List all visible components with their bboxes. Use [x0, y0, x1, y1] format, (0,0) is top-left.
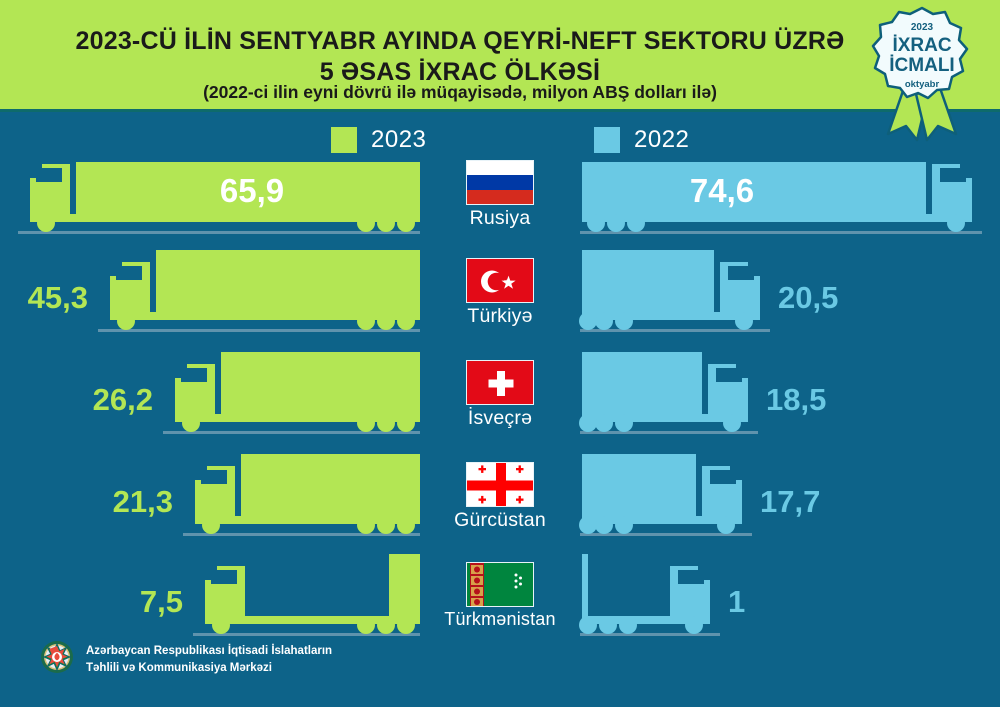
value-2022-turkiye: 20,5: [778, 280, 838, 316]
table-row: 45,3 Türkiyə: [0, 258, 1000, 340]
country-cell-gurcustan: Gürcüstan: [430, 462, 570, 544]
country-label-turkmenistan: Türkmənistan: [444, 609, 555, 630]
row-2-right-truck-area: 18,5: [570, 360, 1000, 442]
country-cell-turkiye: Türkiyə: [430, 258, 570, 340]
truck-bar-2022-gurcustan: [582, 462, 752, 534]
table-row: 21,3 Gürcüstan: [0, 462, 1000, 544]
country-label-isvecre: İsveçrə: [468, 407, 532, 430]
header-banner: 2023-CÜ İLİN SENTYABR AYINDA QEYRİ-NEFT …: [0, 0, 1000, 112]
footer-organization: Azərbaycan Respublikası İqtisadi İslahat…: [86, 643, 332, 675]
value-2022-turkmenistan: 1: [728, 584, 745, 620]
value-2023-isvecre: 26,2: [93, 382, 153, 418]
flag-rusiya-icon: [466, 160, 534, 205]
value-2022-gurcustan: 17,7: [760, 484, 820, 520]
country-label-gurcustan: Gürcüstan: [454, 509, 546, 532]
row-3-left-truck-area: 21,3: [0, 462, 430, 544]
country-label-rusiya: Rusiya: [470, 207, 531, 230]
country-cell-rusiya: Rusiya: [430, 160, 570, 242]
footer-line2: Təhlili və Kommunikasiya Mərkəzi: [86, 660, 332, 676]
infographic-root: 2023-CÜ İLİN SENTYABR AYINDA QEYRİ-NEFT …: [0, 0, 1000, 707]
page-title: 2023-CÜ İLİN SENTYABR AYINDA QEYRİ-NEFT …: [60, 26, 860, 87]
flag-isvecre-icon: [466, 360, 534, 405]
flag-turkiye-icon: [466, 258, 534, 303]
table-row: 65,9 Rusiya: [0, 160, 1000, 242]
legend-label-2022: 2022: [634, 126, 689, 154]
value-2023-rusiya: 65,9: [220, 172, 284, 210]
row-0-left-truck-area: 65,9: [0, 160, 430, 242]
row-1-right-truck-area: 20,5: [570, 258, 1000, 340]
export-review-badge: 2023 İXRAC İCMALI oktyabr: [862, 2, 982, 142]
azerbaijan-emblem-icon: [40, 640, 74, 679]
legend-label-2023: 2023: [371, 126, 426, 154]
badge-year: 2023: [911, 22, 934, 33]
legend-item-2022[interactable]: 2022: [594, 126, 689, 154]
legend-swatch-2023: [331, 127, 357, 153]
footer: Azərbaycan Respublikası İqtisadi İslahat…: [40, 640, 332, 679]
row-3-right-truck-area: 17,7: [570, 462, 1000, 544]
badge-seal-icon: 2023 İXRAC İCMALI oktyabr: [862, 2, 982, 142]
flag-gurcustan-icon: [466, 462, 534, 507]
country-cell-turkmenistan: Türkmənistan: [430, 562, 570, 644]
value-2023-gurcustan: 21,3: [113, 484, 173, 520]
row-2-left-truck-area: 26,2: [0, 360, 430, 442]
truck-bar-2023-turkiye: [100, 258, 420, 330]
badge-month: oktyabr: [905, 79, 940, 90]
truck-bar-2022-turkiye: [582, 258, 770, 330]
badge-line2: İCMALI: [889, 55, 954, 76]
table-row: 7,5: [0, 562, 1000, 644]
legend-item-2023[interactable]: 2023: [331, 126, 426, 154]
flag-turkmenistan-icon: [466, 562, 534, 607]
truck-bar-2023-gurcustan: [185, 462, 420, 534]
value-2022-rusiya: 74,6: [690, 172, 754, 210]
badge-line1: İXRAC: [892, 35, 951, 56]
value-2022-isvecre: 18,5: [766, 382, 826, 418]
page-subtitle: (2022-ci ilin eyni dövrü ilə müqayisədə,…: [60, 82, 860, 103]
row-1-left-truck-area: 45,3: [0, 258, 430, 340]
truck-bar-2022-isvecre: [582, 360, 758, 432]
footer-line1: Azərbaycan Respublikası İqtisadi İslahat…: [86, 643, 332, 659]
row-4-right-truck-area: 1: [570, 562, 1000, 644]
truck-bar-2022-turkmenistan: [582, 562, 720, 634]
value-2023-turkiye: 45,3: [28, 280, 88, 316]
row-0-right-truck-area: 74,6: [570, 160, 1000, 242]
truck-bar-2023-turkmenistan: [195, 562, 420, 634]
truck-bar-2023-isvecre: [165, 360, 420, 432]
country-cell-isvecre: İsveçrə: [430, 360, 570, 442]
value-2023-turkmenistan: 7,5: [140, 584, 183, 620]
legend: 2023 2022: [0, 126, 1000, 160]
legend-swatch-2022: [594, 127, 620, 153]
country-label-turkiye: Türkiyə: [467, 305, 532, 328]
truck-bar-2022-rusiya: [582, 160, 982, 232]
table-row: 26,2 İsveçrə: [0, 360, 1000, 442]
page-title-line1: 2023-CÜ İLİN SENTYABR AYINDA QEYRİ-NEFT …: [60, 26, 860, 57]
row-4-left-truck-area: 7,5: [0, 562, 430, 644]
